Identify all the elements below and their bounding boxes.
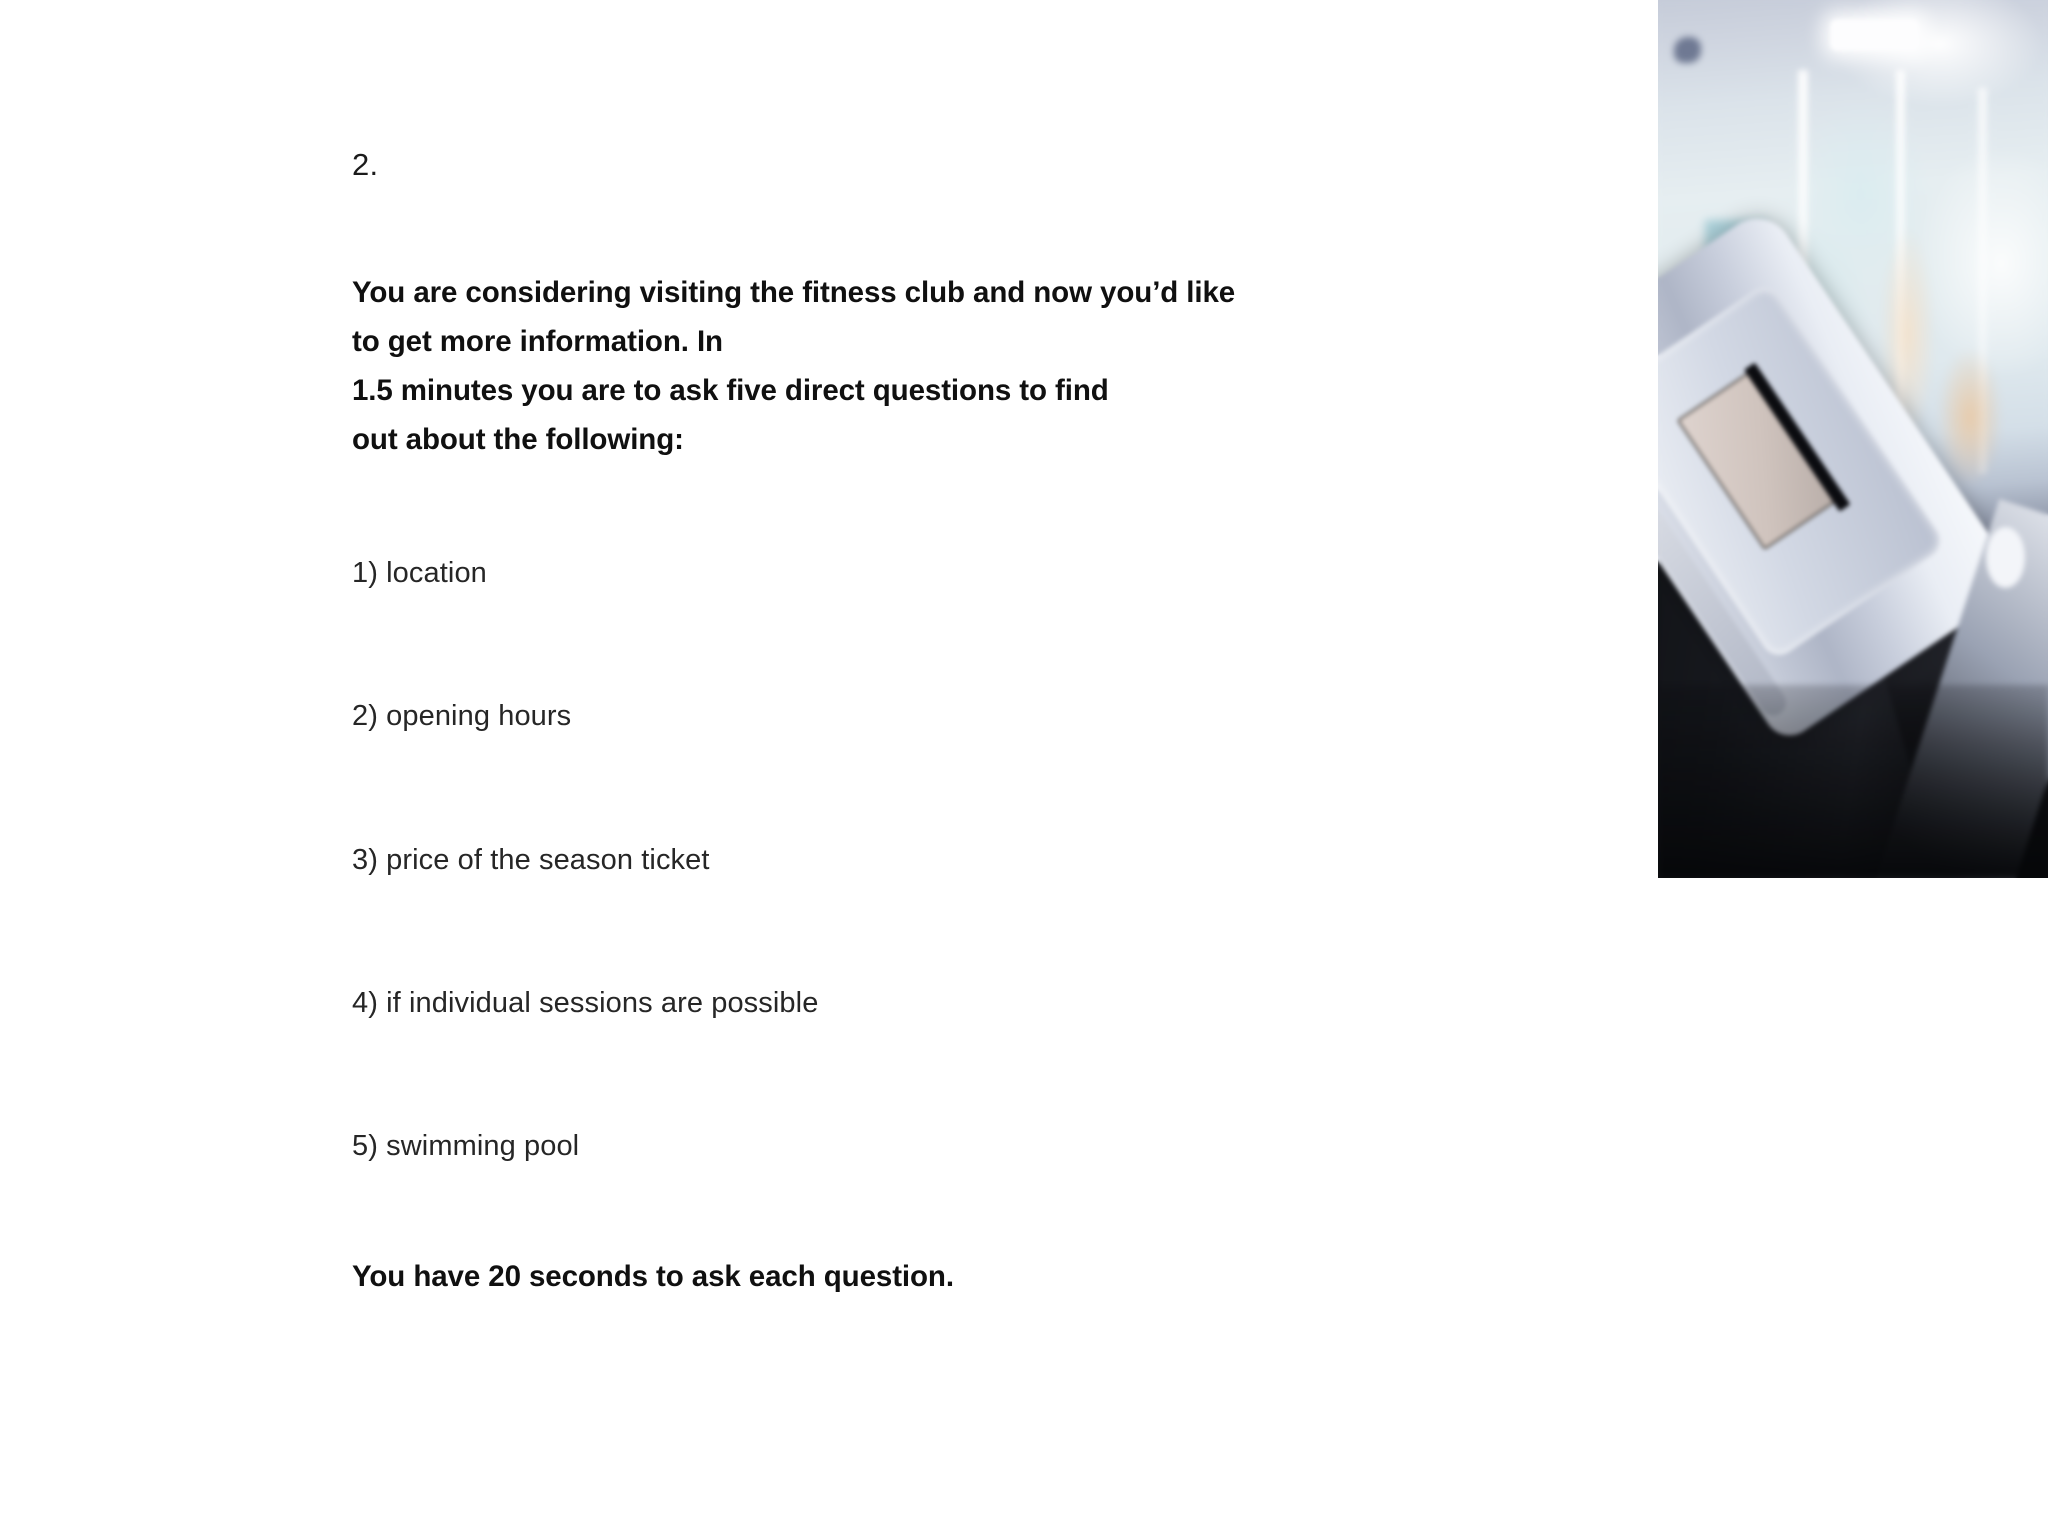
list-item: 1) location <box>352 557 1602 590</box>
task-number: 2. <box>352 148 1602 182</box>
ceiling-light <box>1830 19 1920 51</box>
intro-line-3: 1.5 minutes you are to ask five direct q… <box>352 366 1582 415</box>
document-page: 2. You are considering visiting the fitn… <box>0 0 2048 1536</box>
intro-line-4: out about the following: <box>352 415 1582 464</box>
closing-instruction: You have 20 seconds to ask each question… <box>352 1260 1602 1294</box>
list-item: 4) if individual sessions are possible <box>352 987 1602 1020</box>
task-content: 2. You are considering visiting the fitn… <box>352 148 1602 1294</box>
intro-line-2: to get more information. In <box>352 317 1582 366</box>
list-item: 2) opening hours <box>352 700 1602 733</box>
warm-highlight <box>1939 351 2001 483</box>
task-intro-paragraph: You are considering visiting the fitness… <box>352 268 1582 464</box>
list-item: 3) price of the season ticket <box>352 844 1602 877</box>
fitness-club-photo <box>1658 0 2048 878</box>
machine-knob <box>1986 527 2025 588</box>
question-topics-list: 1) location 2) opening hours 3) price of… <box>352 557 1602 1164</box>
intro-line-1: You are considering visiting the fitness… <box>352 268 1582 317</box>
console-display-screen <box>1676 371 1836 550</box>
list-item: 5) swimming pool <box>352 1130 1602 1163</box>
floor-shadow <box>1658 685 2048 878</box>
ceiling-fixture <box>1674 37 1701 63</box>
